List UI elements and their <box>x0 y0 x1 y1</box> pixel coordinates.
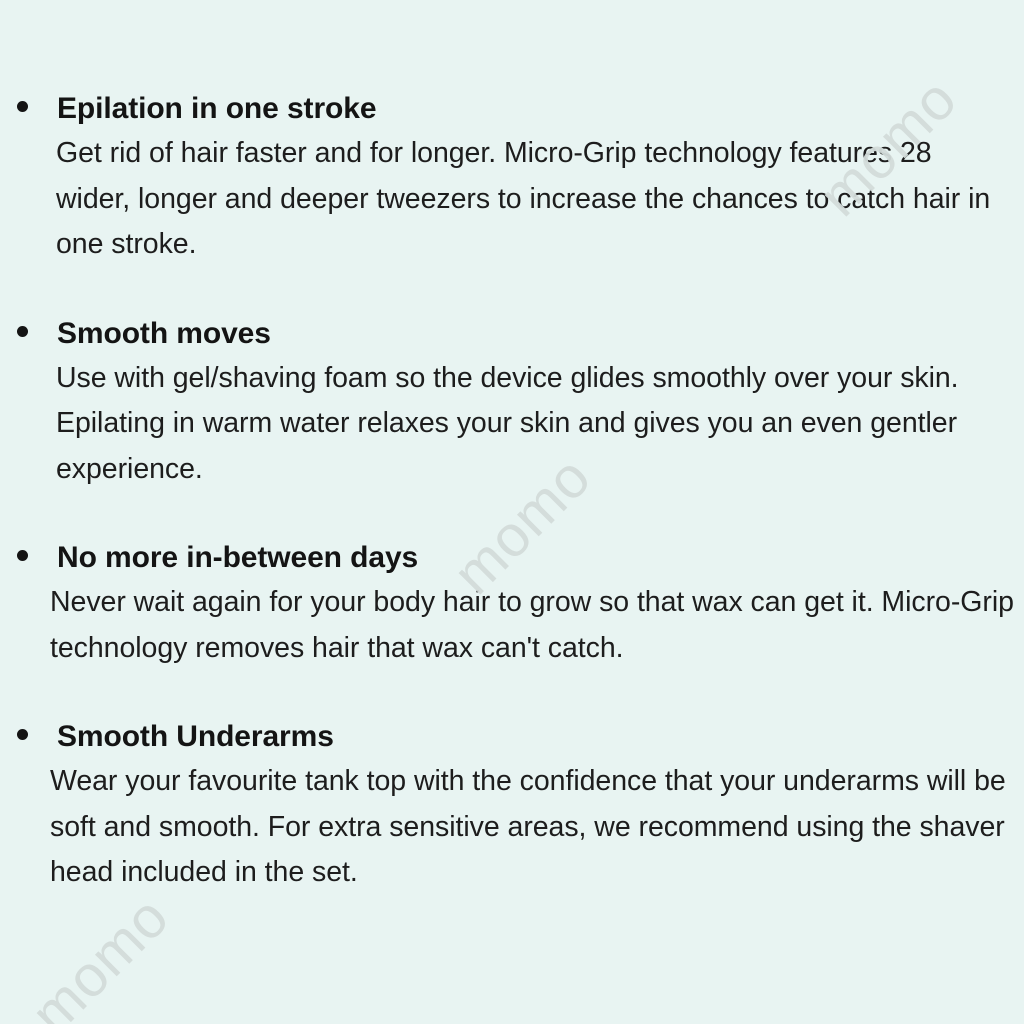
feature-heading: Epilation in one stroke <box>0 86 1024 131</box>
bullet-icon <box>17 101 28 112</box>
feature-heading: No more in-between days <box>0 535 1024 580</box>
feature-list: Epilation in one stroke Get rid of hair … <box>0 0 1024 896</box>
feature-body: Never wait again for your body hair to g… <box>0 580 1024 671</box>
feature-body: Wear your favourite tank top with the co… <box>0 759 1024 896</box>
product-feature-panel: momo momo momo Epilation in one stroke G… <box>0 0 1024 1024</box>
list-item: Smooth moves Use with gel/shaving foam s… <box>0 311 1024 493</box>
watermark-text: momo <box>18 883 182 1024</box>
list-item: No more in-between days Never wait again… <box>0 535 1024 671</box>
bullet-icon <box>17 729 28 740</box>
feature-body: Get rid of hair faster and for longer. M… <box>0 131 1024 268</box>
list-item: Epilation in one stroke Get rid of hair … <box>0 86 1024 268</box>
feature-heading: Smooth Underarms <box>0 714 1024 759</box>
bullet-icon <box>17 326 28 337</box>
bullet-icon <box>17 550 28 561</box>
feature-body: Use with gel/shaving foam so the device … <box>0 356 1024 493</box>
list-item: Smooth Underarms Wear your favourite tan… <box>0 714 1024 896</box>
feature-heading: Smooth moves <box>0 311 1024 356</box>
